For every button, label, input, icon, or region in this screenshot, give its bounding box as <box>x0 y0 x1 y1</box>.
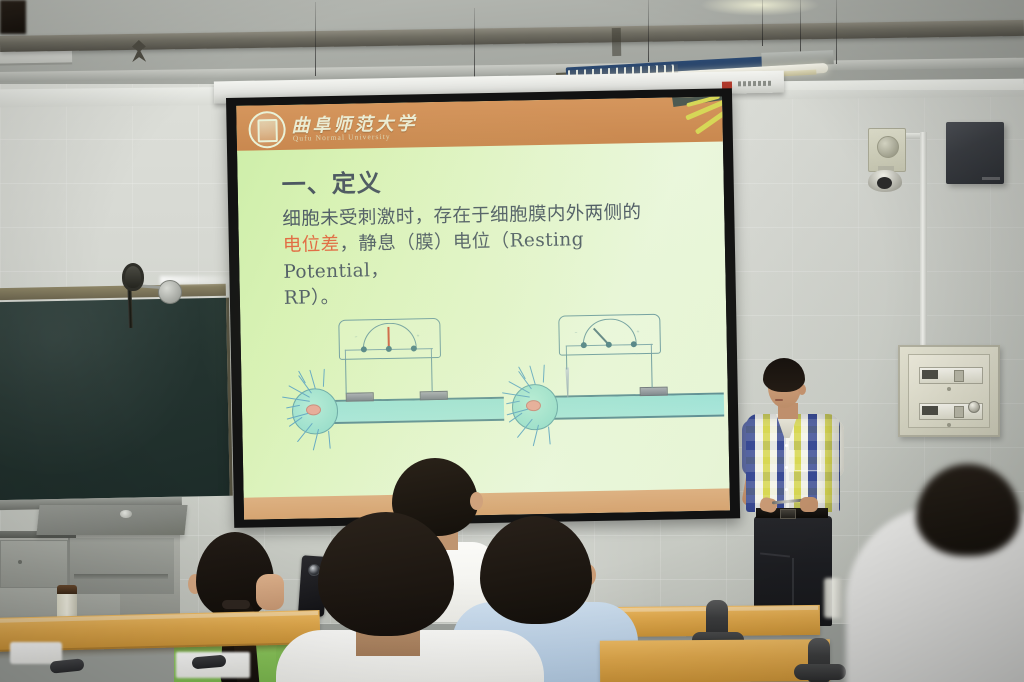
wall-conduit-pipe <box>920 132 927 372</box>
hanging-wire <box>648 0 649 62</box>
slide-body-line-1: 细胞未受刺激时，存在于细胞膜内外两侧的 <box>282 202 641 230</box>
hanging-wire <box>836 0 837 64</box>
lecturer-hand-right <box>800 497 818 512</box>
panel-lock-icon[interactable] <box>968 401 980 413</box>
shirt-button <box>785 466 788 469</box>
meter-terminal <box>631 341 637 347</box>
pipe-joint <box>612 28 621 56</box>
student-hand <box>256 574 284 610</box>
panel-breaker-row[interactable] <box>919 367 983 384</box>
shirt-button <box>785 444 788 447</box>
podium-front-panel <box>68 538 174 594</box>
presentation-slide: 曲阜师范大学 Qufu Normal University 一、定义 细胞未受刺… <box>236 96 730 519</box>
screen-surface: 曲阜师范大学 Qufu Normal University 一、定义 细胞未受刺… <box>236 96 730 519</box>
hanging-wire <box>474 8 475 78</box>
student-head-distant <box>0 0 26 34</box>
diagram-intracellular-recording: − + <box>502 309 725 473</box>
belt-buckle <box>780 509 796 519</box>
university-name-en: Qufu Normal University <box>293 132 391 143</box>
dome-security-camera-icon <box>868 170 902 192</box>
shirt-pocket <box>794 450 821 471</box>
ceiling-light-glow <box>700 0 820 16</box>
bench-armrest-bracket <box>49 658 84 673</box>
breaker-switch-icon <box>922 406 938 415</box>
lecturer-mouth <box>775 399 783 401</box>
university-seal-icon <box>248 111 286 149</box>
slide-header-band: 曲阜师范大学 Qufu Normal University <box>236 96 723 150</box>
meter-plus-label: + <box>637 330 640 335</box>
podium-desktop <box>36 505 187 535</box>
casing-brand-text <box>738 81 772 87</box>
meter-terminal <box>606 342 612 348</box>
breaker-indicator-icon <box>954 406 964 418</box>
meter-plus-label: + <box>417 334 420 339</box>
panel-screw <box>947 387 951 391</box>
podium-slot <box>74 574 168 579</box>
breaker-indicator-icon <box>954 370 964 382</box>
slide-title: 一、定义 <box>281 163 382 200</box>
bottle-cap <box>57 585 77 594</box>
surface-electrode <box>346 392 374 402</box>
intracellular-microelectrode <box>565 367 570 397</box>
meter-terminal <box>581 342 587 348</box>
surface-electrode <box>640 387 668 397</box>
meter-minus-label: − <box>575 331 578 336</box>
meter-terminal <box>386 346 392 352</box>
lecturer-plaid-shirt <box>746 414 840 512</box>
pull-down-projection-screen: 曲阜师范大学 Qufu Normal University 一、定义 细胞未受刺… <box>226 88 740 528</box>
hanging-wire <box>315 2 316 76</box>
dendrite <box>548 427 551 445</box>
hanging-wire <box>800 0 801 52</box>
chalkboard-sheen <box>0 298 230 501</box>
dendrite <box>309 370 316 390</box>
dendrite <box>543 365 545 383</box>
diagram-extracellular-recording: − + <box>282 313 505 477</box>
podium-drawer[interactable] <box>0 540 68 588</box>
lecture-hall-photo: 曲阜师范大学 Qufu Normal University 一、定义 细胞未受刺… <box>0 0 1024 682</box>
student-ear <box>470 492 483 510</box>
slide-body-line-3: RP）。 <box>284 287 340 309</box>
electrical-distribution-panel[interactable] <box>898 345 1000 437</box>
bench-armrest-bracket <box>794 664 846 680</box>
podium-knob-icon[interactable] <box>120 510 132 518</box>
surface-electrode <box>420 391 448 401</box>
panel-inner-frame <box>908 354 990 428</box>
meter-terminal <box>361 346 367 352</box>
slide-footer-band <box>244 488 730 519</box>
shirt-button <box>785 488 788 491</box>
camera-lens-icon <box>877 136 899 158</box>
dendrite <box>529 365 536 385</box>
slide-highlight-term: 电位差 <box>283 234 340 256</box>
hanging-wire <box>762 0 763 46</box>
panel-screw <box>947 423 951 427</box>
header-decoration <box>658 96 723 145</box>
slide-body-text: 细胞未受刺激时，存在于细胞膜内外两侧的 电位差，静息（膜）电位（Resting … <box>282 199 690 312</box>
hair-tie <box>222 600 250 609</box>
dendrite <box>323 369 325 387</box>
wall-speaker <box>946 122 1004 184</box>
microphone-icon[interactable] <box>122 263 144 291</box>
green-chalkboard <box>0 298 230 513</box>
meter-minus-label: − <box>355 336 358 341</box>
breaker-switch-icon <box>922 370 938 379</box>
dendrite <box>328 431 331 449</box>
podium-keyhole <box>18 560 22 564</box>
water-bottle-right <box>824 578 842 618</box>
meter-terminal <box>411 345 417 351</box>
lecturer-hair <box>763 358 805 392</box>
mic-mounting-disc <box>158 280 182 304</box>
